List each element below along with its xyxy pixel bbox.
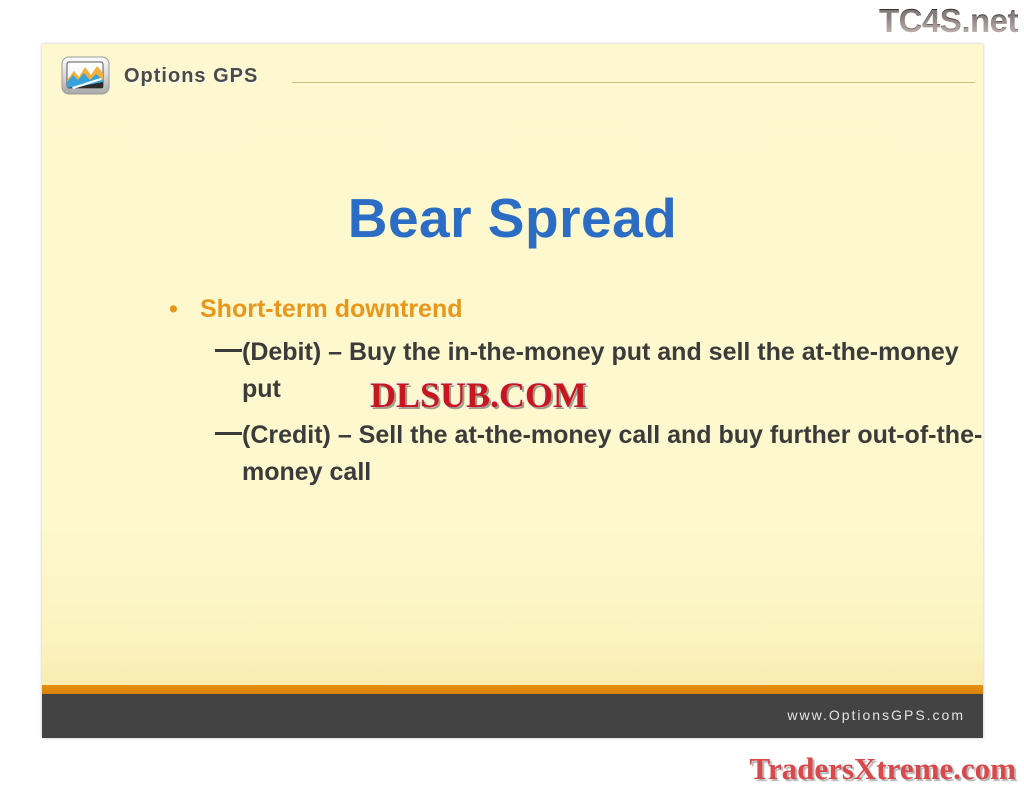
tradersxtreme-watermark: TradersXtreme.com xyxy=(749,751,1016,787)
dlsub-watermark: DLSUB.COM xyxy=(370,374,587,416)
bullet-level2-credit-text: (Credit) – Sell the at-the-money call an… xyxy=(242,421,982,486)
header-divider xyxy=(292,82,975,83)
gps-device-icon xyxy=(60,54,112,98)
bullet-level2-debit-text: (Debit) – Buy the in-the-money put and s… xyxy=(242,338,959,403)
slide-footer: www.OptionsGPS.com xyxy=(42,694,983,738)
slide-title: Bear Spread xyxy=(42,186,983,250)
em-dash-marker-icon xyxy=(215,432,242,435)
footer-website-url: www.OptionsGPS.com xyxy=(787,707,965,723)
footer-accent-stripe xyxy=(42,685,983,694)
bullet-level2-credit: (Credit) – Sell the at-the-money call an… xyxy=(42,417,983,491)
bullet-level1: • Short-term downtrend xyxy=(42,292,983,326)
tc4s-watermark: TC4S.net xyxy=(879,2,1018,40)
brand-logo: Options GPS xyxy=(60,54,258,98)
em-dash-marker-icon xyxy=(215,349,242,352)
bullet-level1-text: Short-term downtrend xyxy=(200,295,463,323)
brand-label: Options GPS xyxy=(124,65,258,88)
bullet-dot-icon: • xyxy=(169,292,178,326)
slide-header: Options GPS xyxy=(42,44,983,110)
